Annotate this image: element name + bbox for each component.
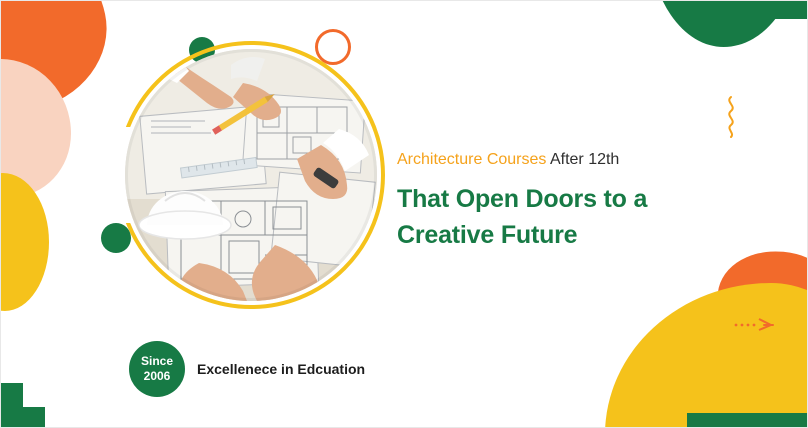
bar-green-bottom-left-small-icon	[23, 407, 45, 427]
credential-badge: Since 2006 Excellenece in Edcuation	[129, 341, 365, 397]
since-badge: Since 2006	[129, 341, 185, 397]
blueprint-scene-illustration	[125, 49, 377, 301]
arrow-dots-right-icon	[733, 315, 777, 331]
kicker: Architecture Courses After 12th	[397, 149, 697, 171]
bar-green-bottom-left-icon	[1, 383, 23, 427]
blob-yellow-bottom-right-icon	[605, 283, 808, 428]
square-green-top-right-icon	[763, 1, 807, 19]
blob-orange-top-left-icon	[0, 0, 121, 131]
since-year: 2006	[144, 369, 171, 384]
strip-yellow-left-icon	[0, 173, 49, 311]
squiggle-orange-right-icon	[723, 95, 739, 139]
hero-photo	[117, 41, 385, 309]
kicker-highlight: Architecture Courses	[397, 151, 546, 168]
since-label: Since	[141, 354, 173, 369]
page-title: That Open Doors to a Creative Future	[397, 181, 697, 253]
headline-line-2: Creative Future	[397, 217, 697, 253]
promo-banner: Architecture Courses After 12th That Ope…	[0, 0, 808, 428]
headline-line-1: That Open Doors to a	[397, 181, 697, 217]
photo-image	[125, 49, 377, 301]
badge-tagline: Excellenece in Edcuation	[197, 361, 365, 377]
kicker-rest: After 12th	[546, 151, 619, 168]
headline-block: Architecture Courses After 12th That Ope…	[397, 149, 697, 253]
blob-peach-left-icon	[0, 59, 71, 197]
bar-green-bottom-right-icon	[687, 413, 807, 427]
wave-green-top-right-icon	[649, 0, 801, 47]
blob-orange-bottom-right-icon	[710, 238, 808, 350]
